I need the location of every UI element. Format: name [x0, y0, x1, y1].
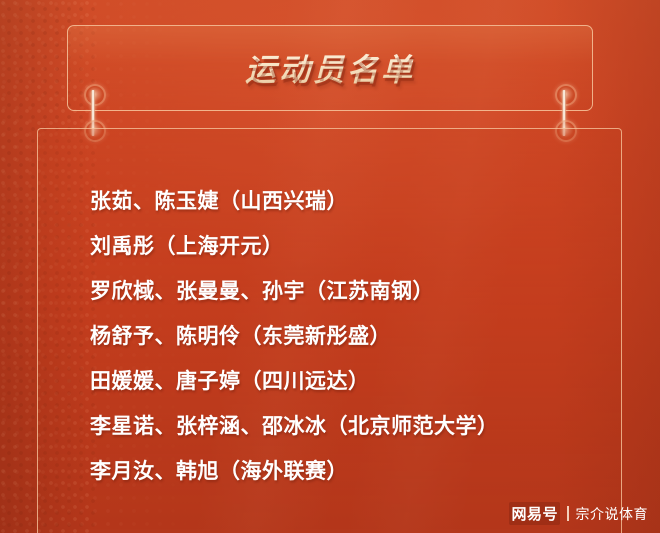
title-banner: 运动员名单	[67, 25, 593, 111]
watermark-divider	[567, 506, 569, 521]
watermark-account-name: 宗介说体育	[576, 504, 649, 524]
pin-ring-top-icon	[555, 84, 577, 106]
list-item: 李星诺、张梓涵、邵冰冰（北京师范大学）	[90, 416, 611, 437]
list-item: 田媛媛、唐子婷（四川远达）	[90, 371, 611, 392]
netease-logo: 网易号	[509, 502, 560, 525]
list-item: 李月汝、韩旭（海外联赛）	[90, 461, 611, 482]
list-item: 杨舒予、陈明伶（东莞新彤盛）	[90, 326, 611, 347]
pin-ring-top-icon	[84, 84, 106, 106]
roster-list: 张茹、陈玉婕（山西兴瑞） 刘禹彤（上海开元） 罗欣棫、张曼曼、孙宇（江苏南钢） …	[90, 191, 611, 482]
list-item: 罗欣棫、张曼曼、孙宇（江苏南钢）	[90, 281, 611, 302]
list-item: 刘禹彤（上海开元）	[90, 236, 611, 257]
poster-root: 运动员名单 张茹、陈玉婕（山西兴瑞） 刘禹彤（上海开元） 罗欣棫、张曼曼、孙宇（…	[0, 0, 660, 533]
watermark: 网易号 宗介说体育	[509, 502, 648, 525]
list-item: 张茹、陈玉婕（山西兴瑞）	[90, 191, 611, 212]
roster-panel: 张茹、陈玉婕（山西兴瑞） 刘禹彤（上海开元） 罗欣棫、张曼曼、孙宇（江苏南钢） …	[37, 128, 622, 533]
page-title: 运动员名单	[68, 45, 592, 90]
